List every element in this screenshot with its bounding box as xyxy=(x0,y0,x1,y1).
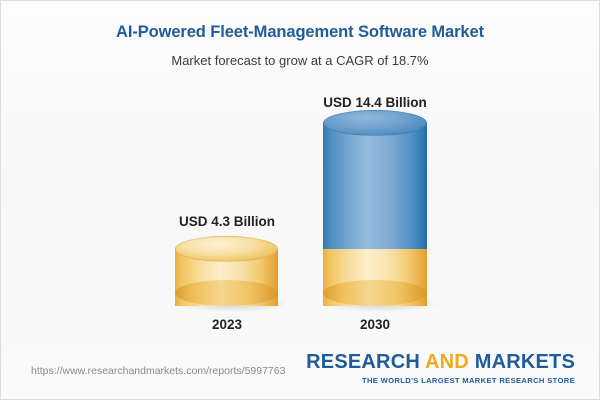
chart-title: AI-Powered Fleet-Management Software Mar… xyxy=(1,23,599,42)
cylinder-top-2023 xyxy=(175,236,278,262)
cylinder-base-2023 xyxy=(175,280,278,306)
cylinder-2030[interactable] xyxy=(323,123,427,306)
logo-word-markets: MARKETS xyxy=(475,351,575,373)
cylinder-2023[interactable] xyxy=(175,249,278,306)
report-url[interactable]: https://www.researchandmarkets.com/repor… xyxy=(31,365,285,377)
category-label-2030: 2030 xyxy=(293,317,457,332)
cylinder-body-upper-2030 xyxy=(323,123,427,249)
plot-area: USD 4.3 Billion 2023 USD 14.4 Billion xyxy=(1,81,600,343)
category-label-2023: 2023 xyxy=(145,317,309,332)
logo-wordmark: RESEARCH AND MARKETS xyxy=(306,351,575,374)
chart-card: AI-Powered Fleet-Management Software Mar… xyxy=(0,0,600,400)
chart-subtitle: Market forecast to grow at a CAGR of 18.… xyxy=(1,53,599,68)
bar-value-label-2030: USD 14.4 Billion xyxy=(293,95,457,110)
logo-word-and: AND xyxy=(425,351,469,373)
logo-word-research: RESEARCH xyxy=(306,351,420,373)
cylinder-top-2030 xyxy=(323,110,427,136)
research-and-markets-logo[interactable]: RESEARCH AND MARKETS THE WORLD'S LARGEST… xyxy=(306,351,575,385)
cylinder-base-2030 xyxy=(323,280,427,306)
footer: https://www.researchandmarkets.com/repor… xyxy=(1,343,599,399)
bar-value-label-2023: USD 4.3 Billion xyxy=(145,214,309,229)
logo-tagline: THE WORLD'S LARGEST MARKET RESEARCH STOR… xyxy=(306,376,575,385)
